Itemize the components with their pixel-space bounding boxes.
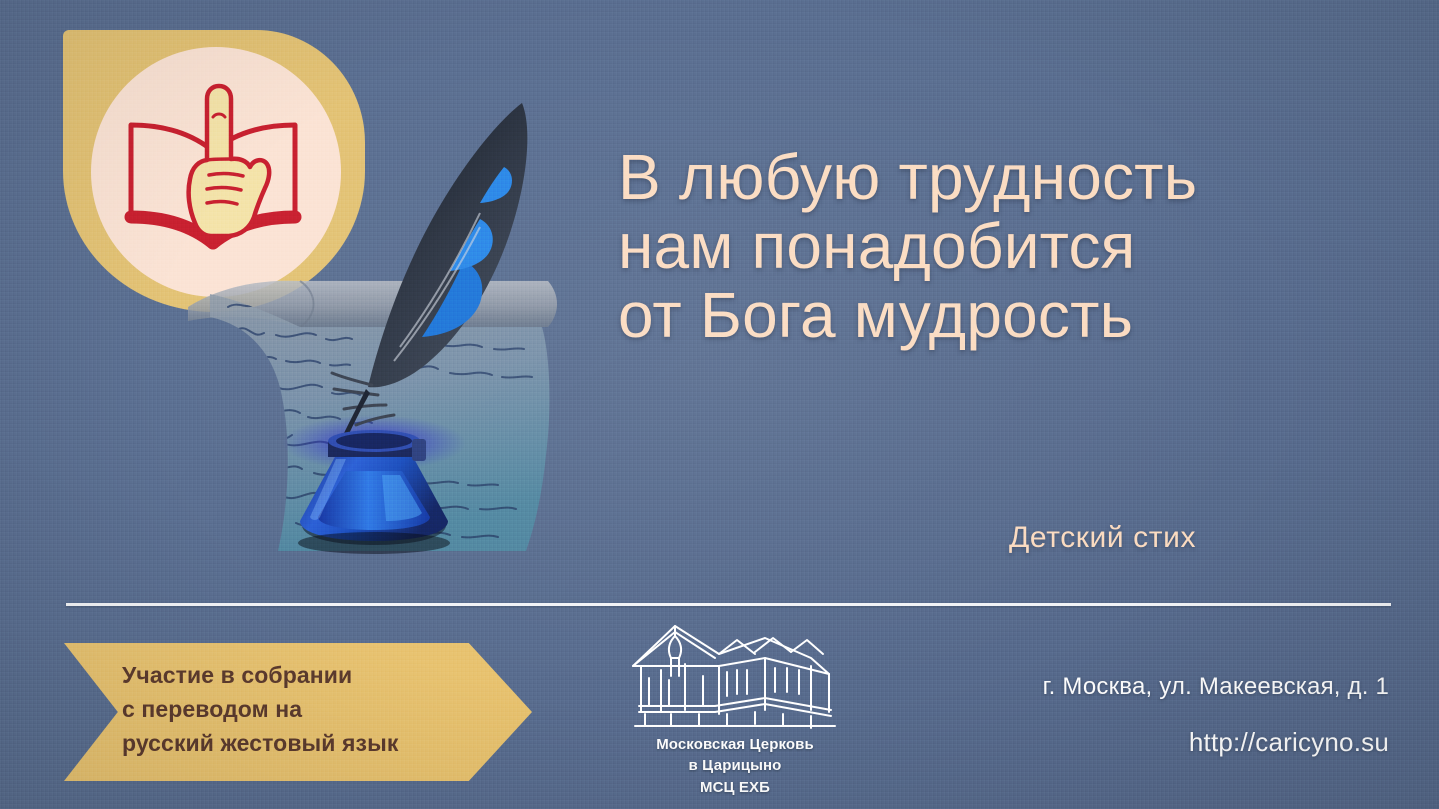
banner-line-1: Участие в собрании bbox=[122, 658, 398, 692]
church-name-line-2: в Царицыно bbox=[610, 755, 860, 776]
title-line-1: В любую трудность bbox=[618, 143, 1408, 212]
accessibility-banner: Участие в собрании с переводом на русски… bbox=[64, 643, 532, 781]
page-title: В любую трудность нам понадобится от Бог… bbox=[618, 143, 1408, 350]
contact-website-url[interactable]: http://caricyno.su bbox=[1189, 727, 1389, 758]
church-name-line-1: Московская Церковь bbox=[610, 734, 860, 755]
banner-text: Участие в собрании с переводом на русски… bbox=[122, 658, 398, 760]
church-name-line-3: МСЦ ЕХБ bbox=[610, 777, 860, 798]
church-logo-caption: Московская Церковь в Царицыно МСЦ ЕХБ bbox=[610, 734, 860, 798]
title-line-3: от Бога мудрость bbox=[618, 281, 1408, 350]
slide-canvas: В любую трудность нам понадобится от Бог… bbox=[0, 0, 1439, 809]
quill-pen-and-inkwell-illustration bbox=[150, 55, 630, 600]
church-building-icon bbox=[615, 614, 855, 732]
banner-line-3: русский жестовый язык bbox=[122, 726, 398, 760]
contact-address: г. Москва, ул. Макеевская, д. 1 bbox=[1043, 673, 1389, 701]
subtitle: Детский стих bbox=[1009, 521, 1196, 555]
church-logo: Московская Церковь в Царицыно МСЦ ЕХБ bbox=[610, 614, 860, 798]
banner-line-2: с переводом на bbox=[122, 692, 398, 726]
title-line-2: нам понадобится bbox=[618, 212, 1408, 281]
horizontal-divider bbox=[66, 603, 1391, 606]
